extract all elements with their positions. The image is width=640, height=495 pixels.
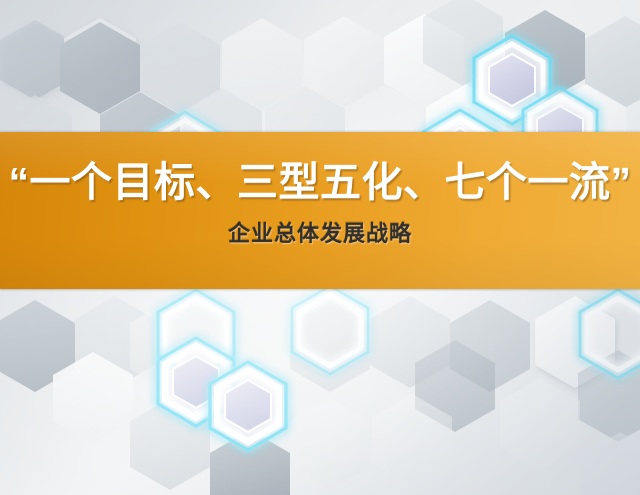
slide-canvas: “一个目标、三型五化、七个一流” 企业总体发展战略	[0, 0, 640, 495]
page-title: “一个目标、三型五化、七个一流”	[9, 160, 632, 204]
page-subtitle: 企业总体发展战略	[228, 222, 412, 246]
title-banner: “一个目标、三型五化、七个一流” 企业总体发展战略	[0, 132, 640, 289]
